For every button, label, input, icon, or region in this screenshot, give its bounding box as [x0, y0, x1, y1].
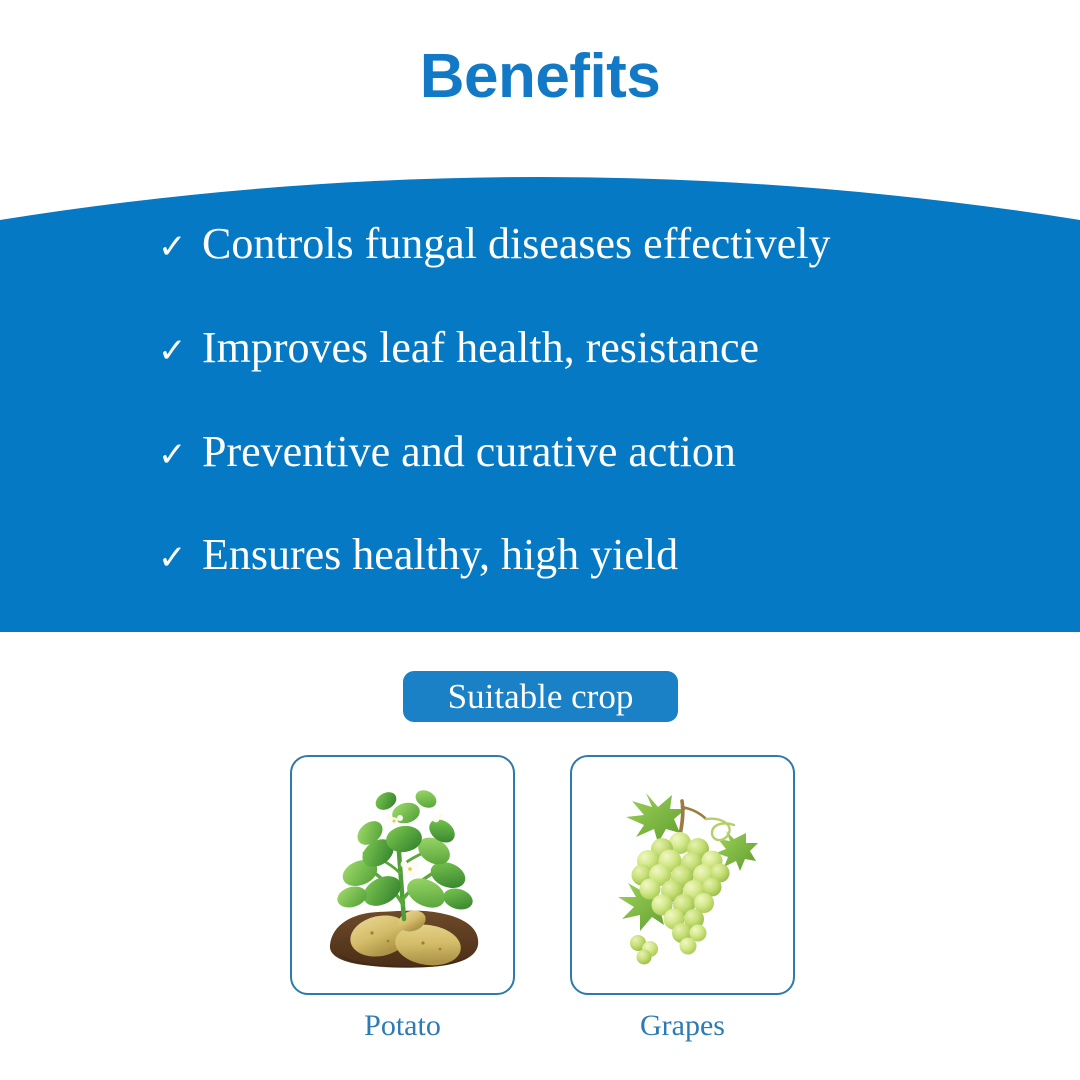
benefit-item: ✓ Preventive and curative action — [158, 430, 736, 474]
benefit-text: Preventive and curative action — [202, 430, 736, 474]
benefit-item: ✓ Controls fungal diseases effectively — [158, 222, 830, 266]
crop-card-potato: Potato — [290, 755, 515, 1041]
benefits-infographic: Benefits ✓ Controls fungal diseases effe… — [0, 0, 1080, 1080]
potato-plant-illustration — [308, 773, 498, 978]
benefits-list: ✓ Controls fungal diseases effectively ✓… — [0, 148, 1080, 632]
suitable-crop-badge: Suitable crop — [403, 671, 678, 722]
green-grapes-illustration — [588, 773, 778, 978]
benefit-item: ✓ Ensures healthy, high yield — [158, 533, 678, 577]
check-icon: ✓ — [158, 541, 202, 575]
crop-card-frame — [570, 755, 795, 995]
crop-card-frame — [290, 755, 515, 995]
crop-card-grapes: Grapes — [570, 755, 795, 1041]
crop-label: Grapes — [570, 1011, 795, 1041]
page-title: Benefits — [0, 46, 1080, 108]
suitable-crop-cards: Potato — [290, 755, 795, 1055]
check-icon: ✓ — [158, 438, 202, 472]
benefit-text: Ensures healthy, high yield — [202, 533, 678, 577]
check-icon: ✓ — [158, 230, 202, 264]
benefit-text: Controls fungal diseases effectively — [202, 222, 830, 266]
benefit-text: Improves leaf health, resistance — [202, 326, 759, 370]
crop-label: Potato — [290, 1011, 515, 1041]
benefit-item: ✓ Improves leaf health, resistance — [158, 326, 759, 370]
check-icon: ✓ — [158, 334, 202, 368]
